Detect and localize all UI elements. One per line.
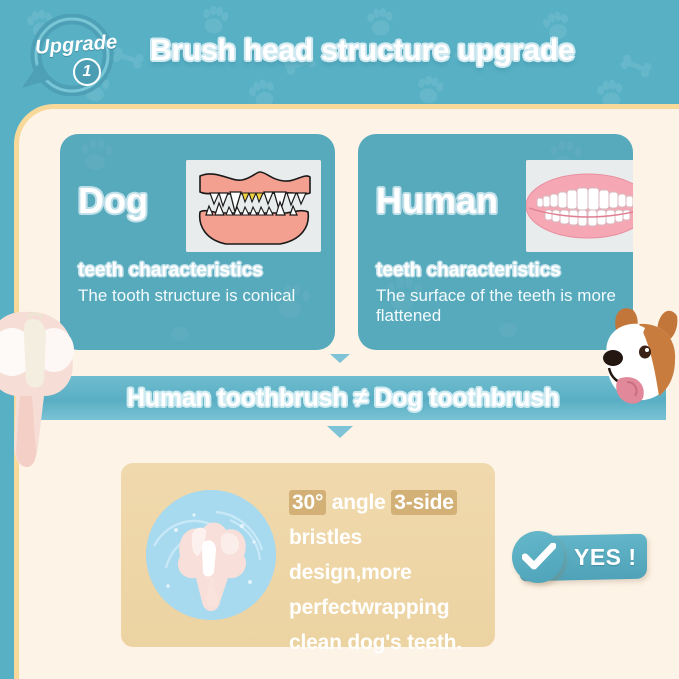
feature-line2: bristles design,more [289, 526, 412, 584]
highlight-angle: 30° [289, 490, 326, 515]
upgrade-badge: Upgrade 1 [18, 14, 126, 96]
dog-card-title: Dog [78, 180, 148, 222]
feature-line4: clean dog's teeth. [289, 631, 462, 654]
feature-description: 30° angle 3-side bristles design,more pe… [289, 485, 487, 660]
highlight-sides: 3-side [391, 490, 457, 515]
human-teeth-illustration [526, 160, 633, 252]
infographic-root: Upgrade 1 Brush head structure upgrade D… [0, 0, 679, 679]
human-characteristics-heading: teeth characteristics [376, 260, 561, 282]
human-card-title: Human [376, 180, 498, 222]
chevron-down-icon-bottom [327, 426, 353, 438]
yes-circle [512, 531, 564, 583]
pink-toothbrush-head [0, 296, 100, 486]
feature-panel: 30° angle 3-side bristles design,more pe… [121, 463, 495, 647]
toothbrush-head-product-photo [146, 490, 276, 620]
header: Upgrade 1 Brush head structure upgrade [0, 0, 679, 104]
corgi-dog-photo [577, 300, 679, 410]
comparison-card-dog: Dog [60, 134, 335, 350]
comparison-banner-text: Human toothbrush ≠ Dog toothbrush [127, 384, 559, 413]
dog-teeth-illustration [186, 160, 321, 252]
upgrade-number: 1 [73, 58, 101, 86]
chevron-down-icon-top [330, 354, 350, 363]
dog-card-row: Dog [78, 160, 325, 256]
page-title: Brush head structure upgrade [150, 34, 574, 68]
human-card-row: Human [376, 160, 623, 256]
dog-characteristics-heading: teeth characteristics [78, 260, 263, 282]
comparison-banner: Human toothbrush ≠ Dog toothbrush [20, 376, 666, 420]
yes-badge: YES ! [512, 531, 647, 583]
dog-characteristics-description: The tooth structure is conical [78, 286, 323, 306]
feature-line1-mid: angle [326, 491, 391, 514]
yes-label: YES ! [574, 544, 637, 571]
check-icon [522, 543, 556, 571]
feature-line3: perfectwrapping [289, 596, 449, 619]
